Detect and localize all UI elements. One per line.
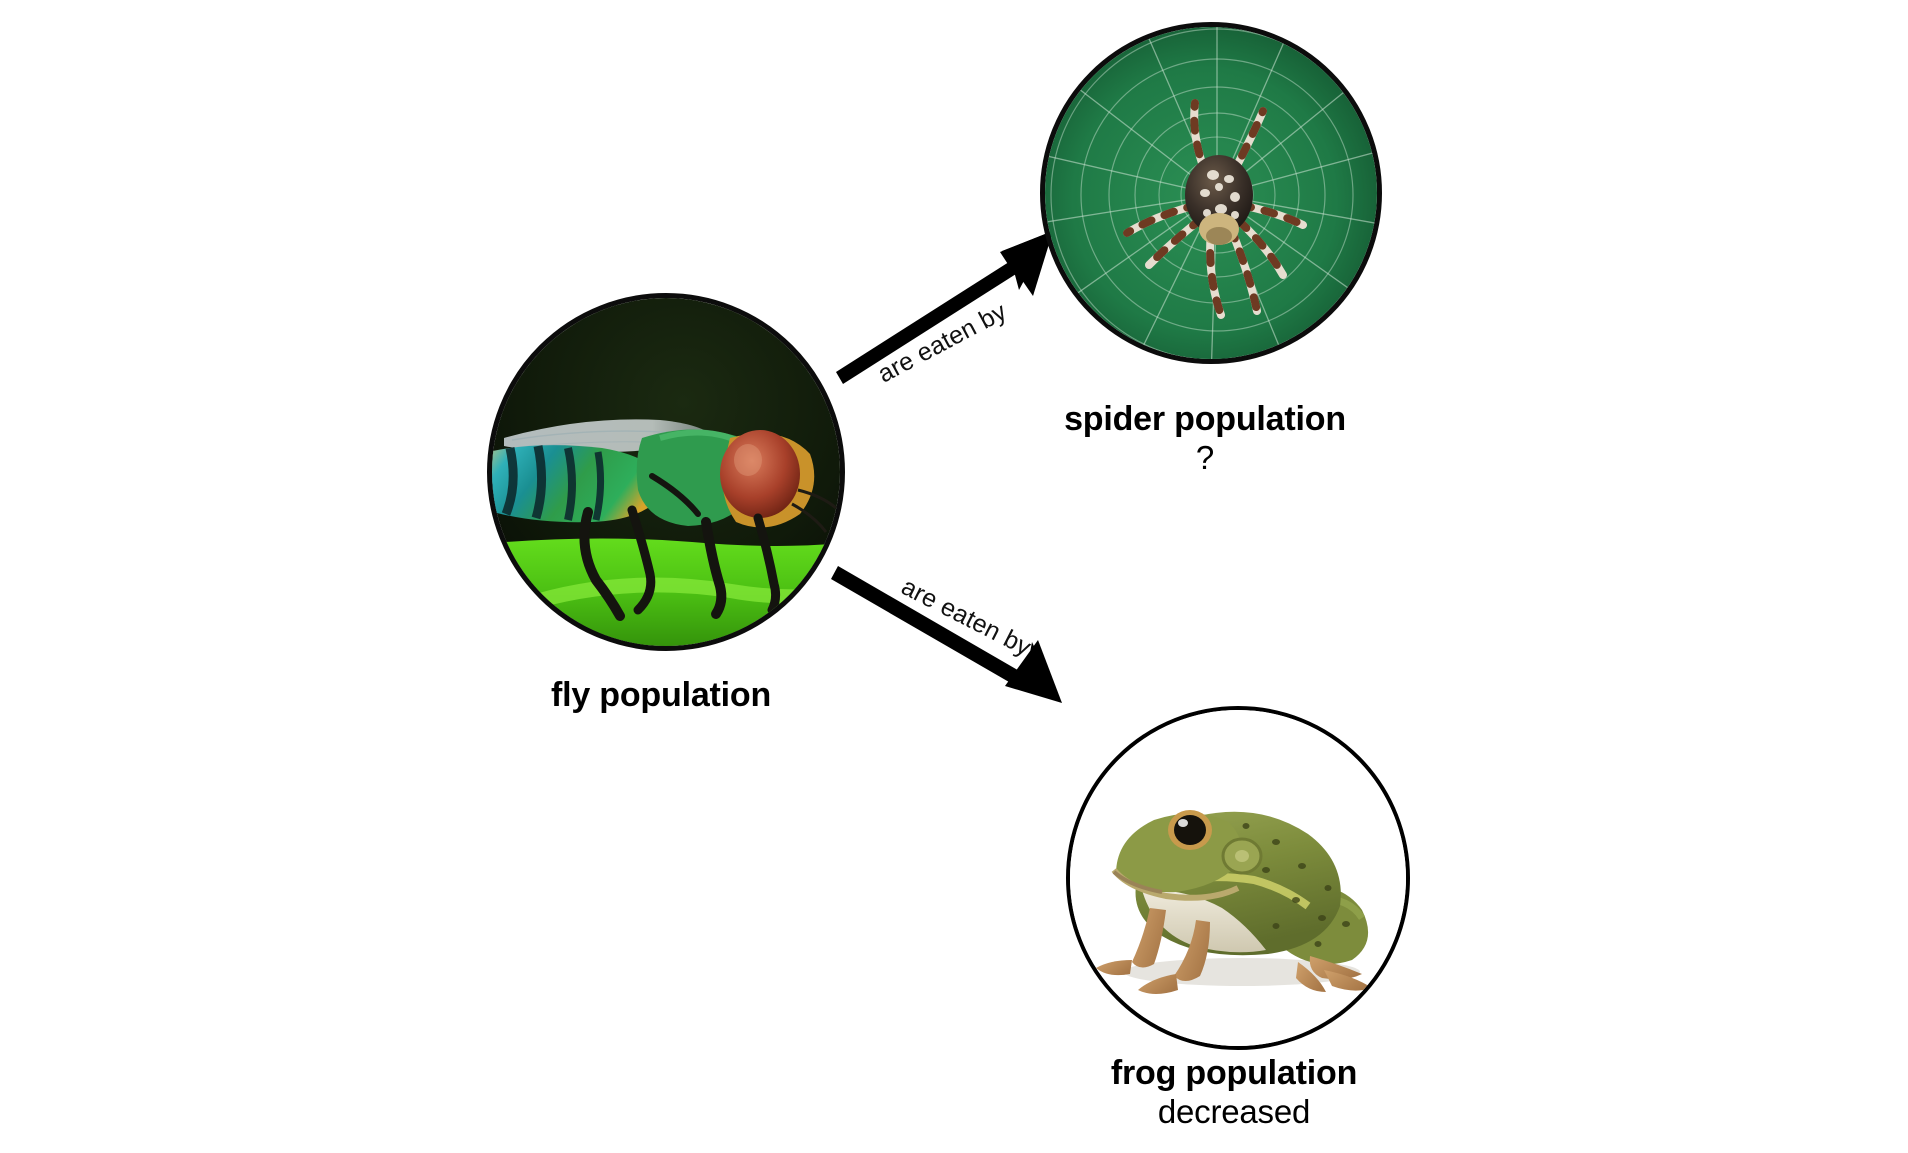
diagram-canvas: fly population bbox=[0, 0, 1908, 1153]
node-label-frog: frog population decreased bbox=[909, 1054, 1559, 1130]
frog-population-status: decreased bbox=[909, 1093, 1559, 1131]
fly-population-title: fly population bbox=[461, 676, 861, 715]
fly-photo bbox=[492, 298, 840, 646]
node-image-spider[interactable] bbox=[1040, 22, 1382, 364]
frog-photo bbox=[1070, 710, 1406, 1046]
node-image-fly[interactable] bbox=[487, 293, 845, 651]
edge-label-fly-to-spider: are eaten by bbox=[873, 297, 1011, 389]
node-label-spider: spider population ? bbox=[880, 400, 1530, 476]
edge-label-fly-to-frog: are eaten by bbox=[896, 573, 1035, 663]
node-image-frog[interactable] bbox=[1066, 706, 1410, 1050]
arrow-fly-to-spider bbox=[836, 231, 1053, 384]
spider-population-status: ? bbox=[880, 439, 1530, 477]
spider-photo bbox=[1045, 27, 1377, 359]
frog-population-title: frog population bbox=[909, 1054, 1559, 1093]
spider-population-title: spider population bbox=[880, 400, 1530, 439]
arrow-layer bbox=[0, 0, 1908, 1153]
node-label-fly: fly population bbox=[461, 676, 861, 715]
